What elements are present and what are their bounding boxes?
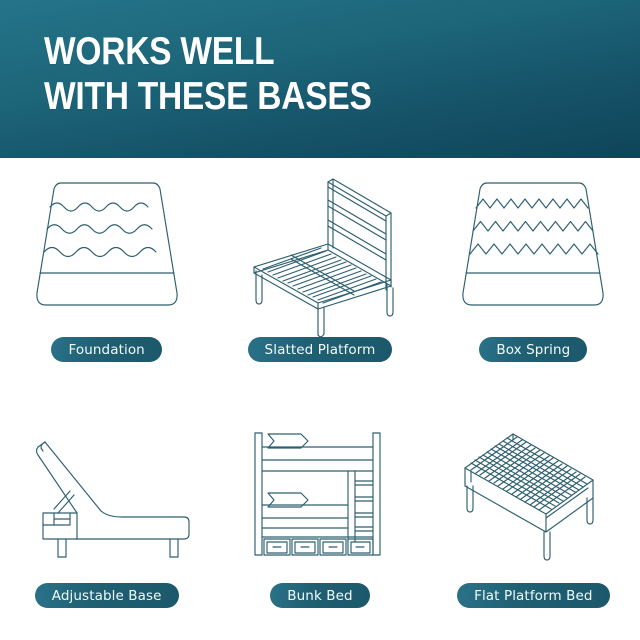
- base-label-slatted-platform[interactable]: Slatted Platform: [248, 337, 393, 362]
- box-spring-zigzag-quilt-icon: [427, 172, 640, 327]
- adjustable-base-icon: [0, 419, 213, 569]
- base-label-adjustable-base[interactable]: Adjustable Base: [35, 583, 179, 608]
- base-label-foundation[interactable]: Foundation: [51, 337, 161, 362]
- base-card-slatted-platform[interactable]: Slatted Platform: [213, 158, 426, 399]
- base-card-box-spring[interactable]: Box Spring: [427, 158, 640, 399]
- infographic-card: WORKS WELL WITH THESE BASES: [0, 0, 640, 640]
- mattress-wavy-quilt-icon: [0, 172, 213, 327]
- base-label-bunk-bed[interactable]: Bunk Bed: [270, 583, 369, 608]
- base-label-box-spring[interactable]: Box Spring: [479, 337, 587, 362]
- flat-platform-bed-icon: [427, 419, 640, 569]
- base-card-bunk-bed[interactable]: Bunk Bed: [213, 399, 426, 640]
- page-title: WORKS WELL WITH THESE BASES: [44, 29, 372, 119]
- base-card-adjustable-base[interactable]: Adjustable Base: [0, 399, 213, 640]
- base-card-flat-platform-bed[interactable]: Flat Platform Bed: [427, 399, 640, 640]
- base-card-foundation[interactable]: Foundation: [0, 158, 213, 399]
- bases-grid: Foundation: [0, 158, 640, 640]
- base-label-flat-platform-bed[interactable]: Flat Platform Bed: [457, 583, 609, 608]
- header-banner: WORKS WELL WITH THESE BASES: [0, 0, 640, 158]
- bunk-bed-icon: [213, 419, 426, 569]
- slatted-platform-bed-icon: [213, 172, 426, 327]
